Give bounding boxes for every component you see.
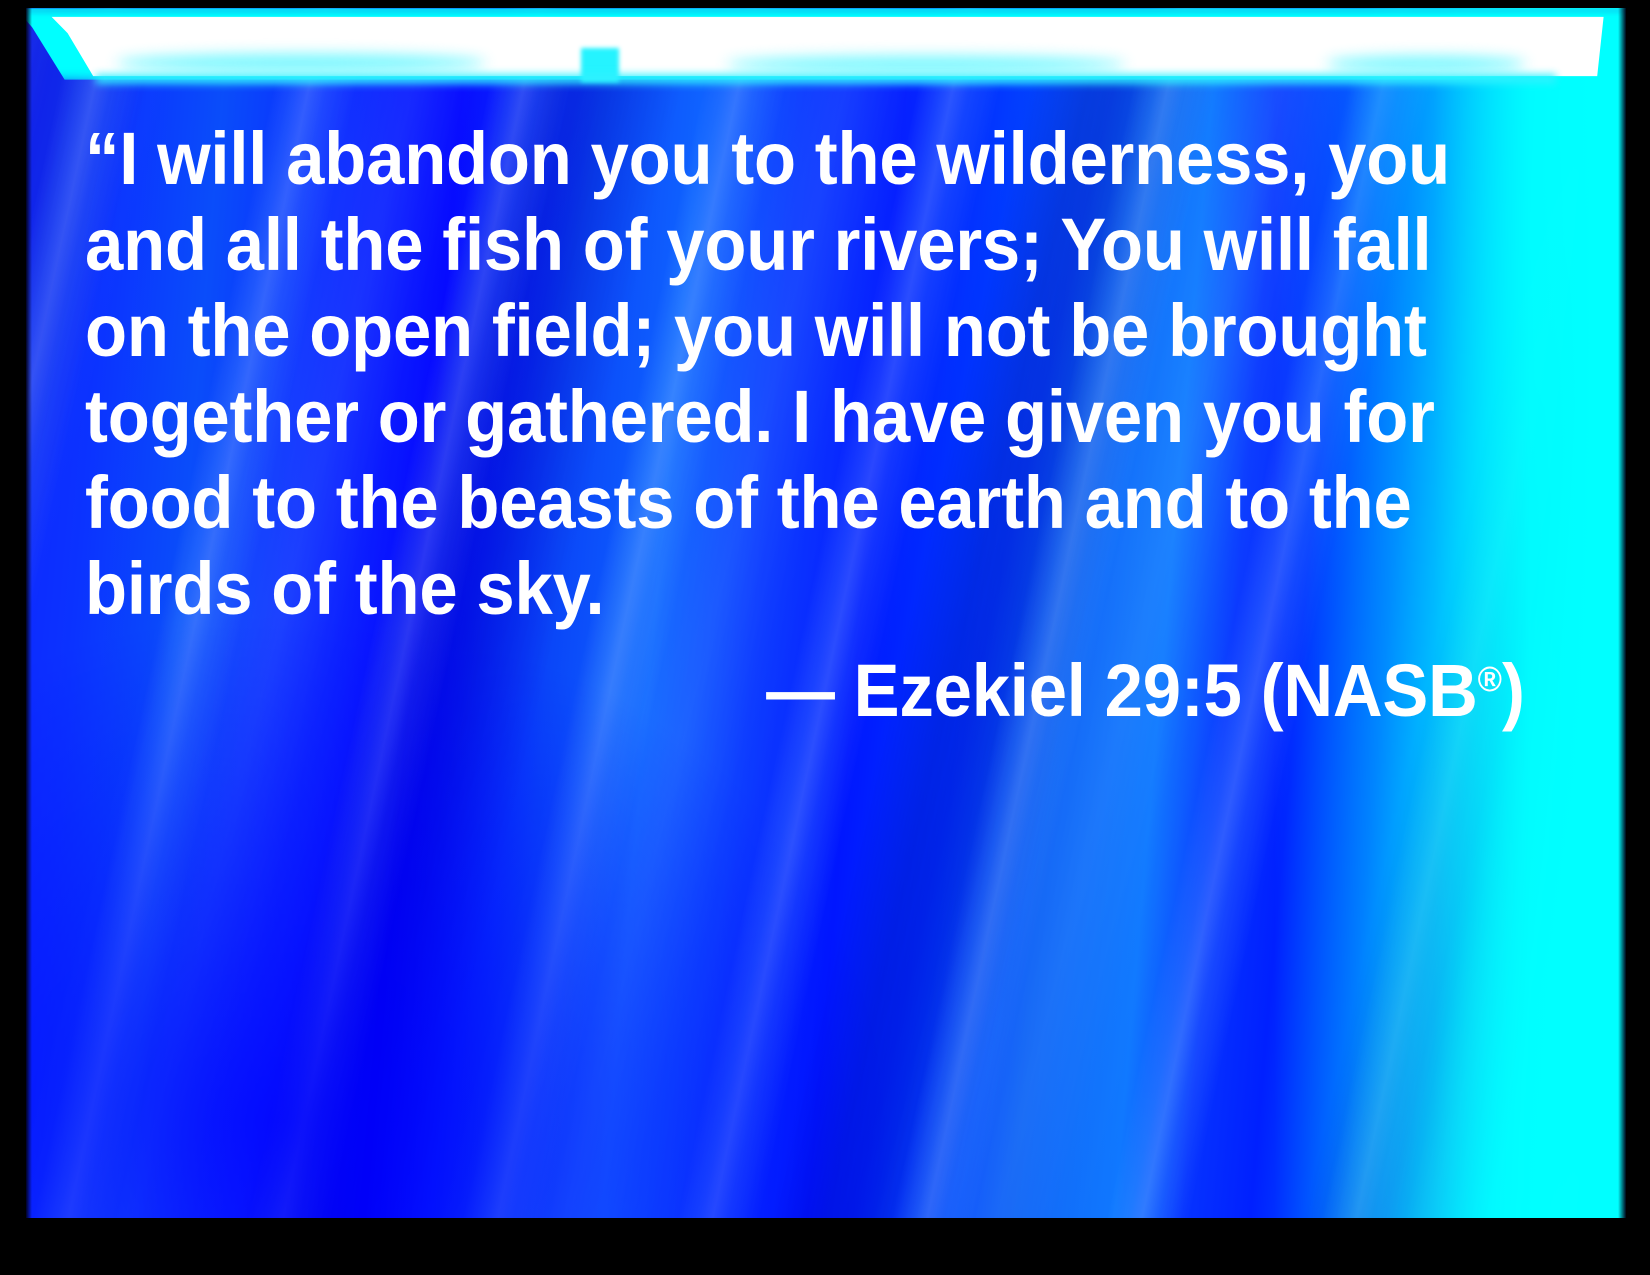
verse-line-6: birds of the sky. [85, 546, 1424, 632]
verse-text-block: “I will abandon you to the wilderness, y… [85, 116, 1525, 632]
verse-canvas: “I will abandon you to the wilderness, y… [26, 8, 1626, 1218]
verse-line-2: and all the fish of your rivers; You wil… [85, 202, 1424, 288]
header-glow-band [26, 8, 1626, 92]
canvas-edge-right [1618, 8, 1626, 1218]
verse-attribution-text: — Ezekiel 29:5 (NASB®) [766, 636, 1525, 734]
registered-trademark-icon: ® [1478, 659, 1502, 699]
canvas-edge-left [26, 8, 32, 1218]
verse-line-1: “I will abandon you to the wilderness, y… [85, 116, 1424, 202]
attribution-suffix: ) [1502, 649, 1525, 732]
verse-line-5: food to the beasts of the earth and to t… [85, 460, 1424, 546]
glow-blotch-left [116, 54, 486, 72]
verse-slide-frame: “I will abandon you to the wilderness, y… [0, 0, 1650, 1275]
verse-line-3: on the open field; you will not be broug… [85, 288, 1424, 374]
glow-blotch-right [1326, 56, 1526, 72]
verse-line-4: together or gathered. I have given you f… [85, 374, 1424, 460]
verse-attribution: — Ezekiel 29:5 (NASB®) [85, 636, 1525, 734]
glow-lower-line [96, 74, 1556, 84]
glow-upper-line [26, 8, 1626, 13]
attribution-prefix: — Ezekiel 29:5 (NASB [766, 649, 1478, 732]
glow-blotch-center [726, 56, 1126, 73]
